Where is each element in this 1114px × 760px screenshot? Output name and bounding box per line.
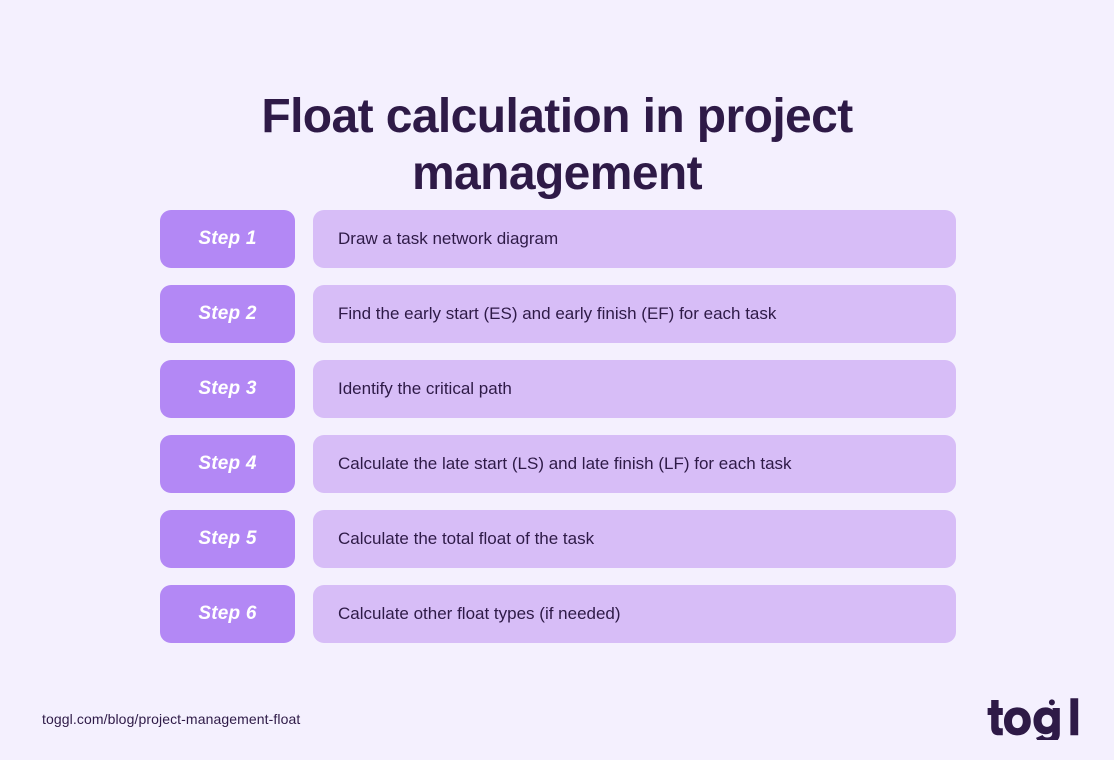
- step-badge-1: Step 1: [160, 210, 295, 268]
- step-description-1: Draw a task network diagram: [313, 210, 956, 268]
- step-description-6: Calculate other float types (if needed): [313, 585, 956, 643]
- list-item: Step 1 Draw a task network diagram: [160, 210, 956, 268]
- step-badge-label: Step 3: [198, 378, 256, 400]
- list-item: Step 5 Calculate the total float of the …: [160, 510, 956, 568]
- step-description-5: Calculate the total float of the task: [313, 510, 956, 568]
- step-description-2: Find the early start (ES) and early fini…: [313, 285, 956, 343]
- step-description-text: Calculate the total float of the task: [338, 528, 594, 550]
- step-description-text: Find the early start (ES) and early fini…: [338, 303, 776, 325]
- step-badge-label: Step 6: [198, 603, 256, 625]
- list-item: Step 2 Find the early start (ES) and ear…: [160, 285, 956, 343]
- step-description-text: Calculate the late start (LS) and late f…: [338, 453, 792, 475]
- source-url: toggl.com/blog/project-management-float: [42, 711, 300, 727]
- step-description-text: Draw a task network diagram: [338, 228, 558, 250]
- step-badge-3: Step 3: [160, 360, 295, 418]
- toggl-logo: [985, 696, 1081, 740]
- step-description-text: Calculate other float types (if needed): [338, 603, 621, 625]
- list-item: Step 4 Calculate the late start (LS) and…: [160, 435, 956, 493]
- step-badge-5: Step 5: [160, 510, 295, 568]
- step-badge-6: Step 6: [160, 585, 295, 643]
- infographic-page: Float calculation in project management …: [0, 0, 1114, 760]
- step-badge-label: Step 5: [198, 528, 256, 550]
- steps-list: Step 1 Draw a task network diagram Step …: [160, 210, 956, 643]
- step-badge-2: Step 2: [160, 285, 295, 343]
- step-badge-label: Step 2: [198, 303, 256, 325]
- step-description-4: Calculate the late start (LS) and late f…: [313, 435, 956, 493]
- step-badge-label: Step 4: [198, 453, 256, 475]
- list-item: Step 3 Identify the critical path: [160, 360, 956, 418]
- list-item: Step 6 Calculate other float types (if n…: [160, 585, 956, 643]
- step-badge-4: Step 4: [160, 435, 295, 493]
- step-description-3: Identify the critical path: [313, 360, 956, 418]
- step-description-text: Identify the critical path: [338, 378, 512, 400]
- step-badge-label: Step 1: [198, 228, 256, 250]
- page-title: Float calculation in project management: [0, 88, 1114, 202]
